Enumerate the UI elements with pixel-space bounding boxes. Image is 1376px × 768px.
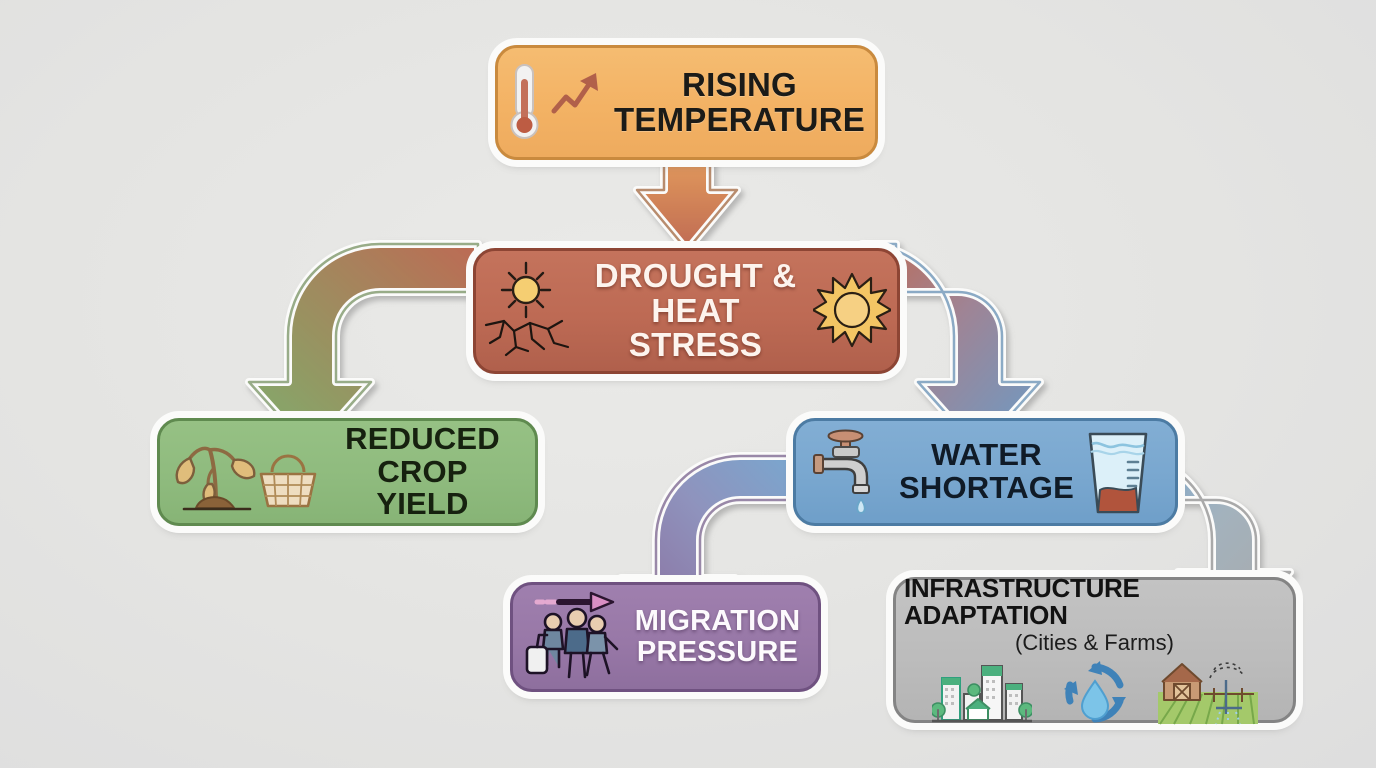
empty-basket-icon: [256, 444, 320, 512]
node-label: DROUGHT & HEAT STRESS: [582, 259, 809, 364]
irrigated-farm-icon: [1158, 660, 1258, 726]
water-recycle-icon: [1058, 659, 1132, 727]
node-icon-row: [932, 659, 1258, 727]
node-title: INFRASTRUCTURE ADAPTATION: [904, 575, 1285, 630]
node-rising-temperature[interactable]: RISING TEMPERATURE: [495, 45, 878, 160]
node-infrastructure-adaptation[interactable]: INFRASTRUCTURE ADAPTATION (Cities & Farm…: [893, 577, 1296, 723]
sun-burst-icon: [813, 272, 891, 350]
flowchart-canvas: RISING TEMPERATURE: [0, 0, 1376, 768]
green-city-icon: [932, 660, 1032, 726]
node-migration-pressure[interactable]: MIGRATION PRESSURE: [510, 582, 821, 692]
dripping-faucet-icon: [811, 429, 897, 515]
node-reduced-crop-yield[interactable]: REDUCED CROP YIELD: [157, 418, 538, 526]
sun-icon: [482, 259, 578, 363]
node-label: MIGRATION PRESSURE: [635, 606, 801, 667]
rising-arrow-icon: [550, 67, 604, 121]
node-label: WATER SHORTAGE: [899, 439, 1074, 505]
low-water-glass-icon: [1076, 428, 1160, 516]
walking-people-icon: [525, 591, 629, 683]
wilting-plant-icon: [170, 428, 266, 516]
node-label: REDUCED CROP YIELD: [328, 423, 517, 522]
node-drought-heat-stress[interactable]: DROUGHT & HEAT STRESS: [473, 248, 900, 374]
node-subtitle: (Cities & Farms): [1015, 631, 1174, 655]
thermometer-icon: [502, 61, 554, 145]
node-water-shortage[interactable]: WATER SHORTAGE: [793, 418, 1178, 526]
node-label: RISING TEMPERATURE: [614, 68, 865, 138]
